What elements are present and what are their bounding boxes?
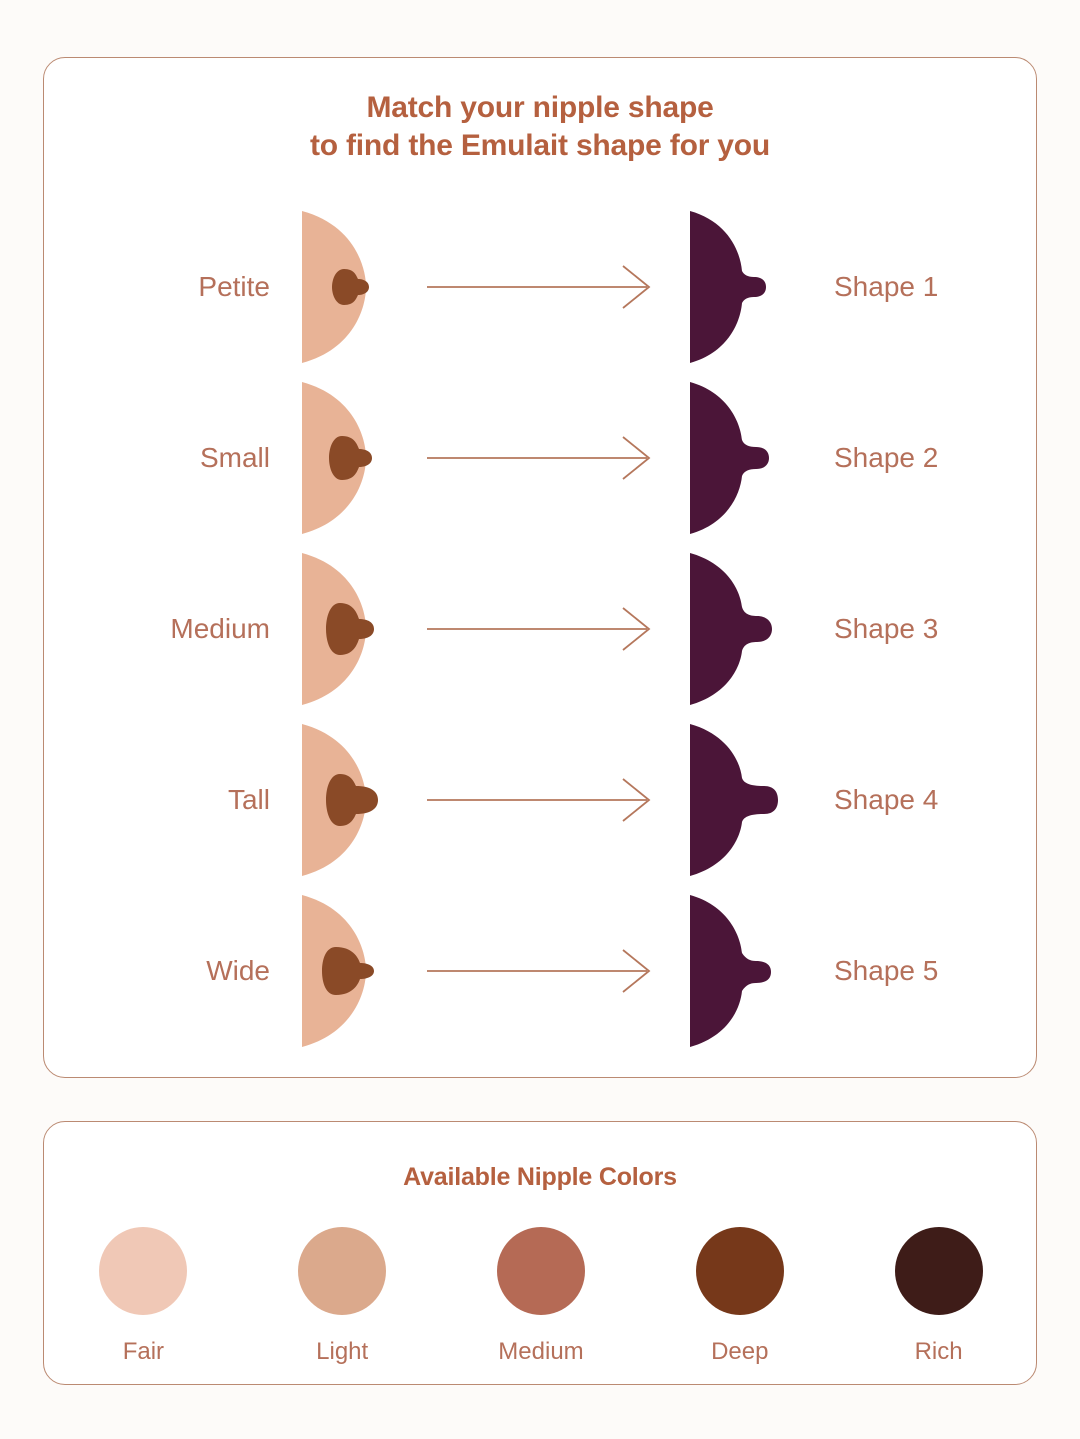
color-swatch-medium[interactable] [497,1227,585,1315]
shape-label-3: Shape 3 [796,613,1038,645]
color-swatch-list: Fair Light Medium Deep Rich [44,1227,1038,1366]
color-swatch-light[interactable] [298,1227,386,1315]
row-label-wide: Wide [44,955,296,987]
arrow-petite [396,261,686,313]
table-row[interactable]: Medium [44,543,1038,714]
table-row[interactable]: Small S [44,372,1038,543]
colors-card-title: Available Nipple Colors [44,1122,1036,1192]
table-row[interactable]: Wide Sh [44,885,1038,1056]
color-swatch-fair[interactable] [99,1227,187,1315]
row-label-medium: Medium [44,613,296,645]
list-item[interactable]: Deep [665,1227,815,1366]
teat-illustration-shape-1 [686,207,796,367]
row-label-tall: Tall [44,784,296,816]
table-row[interactable]: Petite [44,201,1038,372]
match-title-line-2: to find the Emulait shape for you [44,127,1036,165]
list-item[interactable]: Light [267,1227,417,1366]
nipple-shape-guide-page: Match your nipple shape to find the Emul… [0,0,1080,1439]
color-swatch-deep[interactable] [696,1227,784,1315]
color-swatch-label-medium: Medium [498,1338,583,1366]
color-swatch-label-rich: Rich [915,1338,963,1366]
arrow-medium [396,603,686,655]
shape-label-1: Shape 1 [796,271,1038,303]
breast-illustration-petite [296,207,396,367]
shape-rows: Petite [44,201,1038,1056]
teat-illustration-shape-4 [686,720,796,880]
match-card-title: Match your nipple shape to find the Emul… [44,58,1036,166]
color-swatch-label-fair: Fair [123,1338,164,1366]
list-item[interactable]: Medium [466,1227,616,1366]
breast-illustration-small [296,378,396,538]
row-label-petite: Petite [44,271,296,303]
list-item[interactable]: Rich [864,1227,1014,1366]
list-item[interactable]: Fair [68,1227,218,1366]
teat-illustration-shape-5 [686,891,796,1051]
arrow-small [396,432,686,484]
row-label-small: Small [44,442,296,474]
shape-label-2: Shape 2 [796,442,1038,474]
arrow-tall [396,774,686,826]
shape-label-5: Shape 5 [796,955,1038,987]
arrow-wide [396,945,686,997]
breast-illustration-tall [296,720,396,880]
available-colors-card: Available Nipple Colors Fair Light Mediu… [43,1121,1037,1385]
color-swatch-rich[interactable] [895,1227,983,1315]
teat-illustration-shape-3 [686,549,796,709]
color-swatch-label-light: Light [316,1338,368,1366]
color-swatch-label-deep: Deep [711,1338,768,1366]
breast-illustration-medium [296,549,396,709]
shape-label-4: Shape 4 [796,784,1038,816]
match-title-line-1: Match your nipple shape [366,91,713,124]
match-shape-card: Match your nipple shape to find the Emul… [43,57,1037,1078]
breast-illustration-wide [296,891,396,1051]
teat-illustration-shape-2 [686,378,796,538]
table-row[interactable]: Tall Sh [44,714,1038,885]
